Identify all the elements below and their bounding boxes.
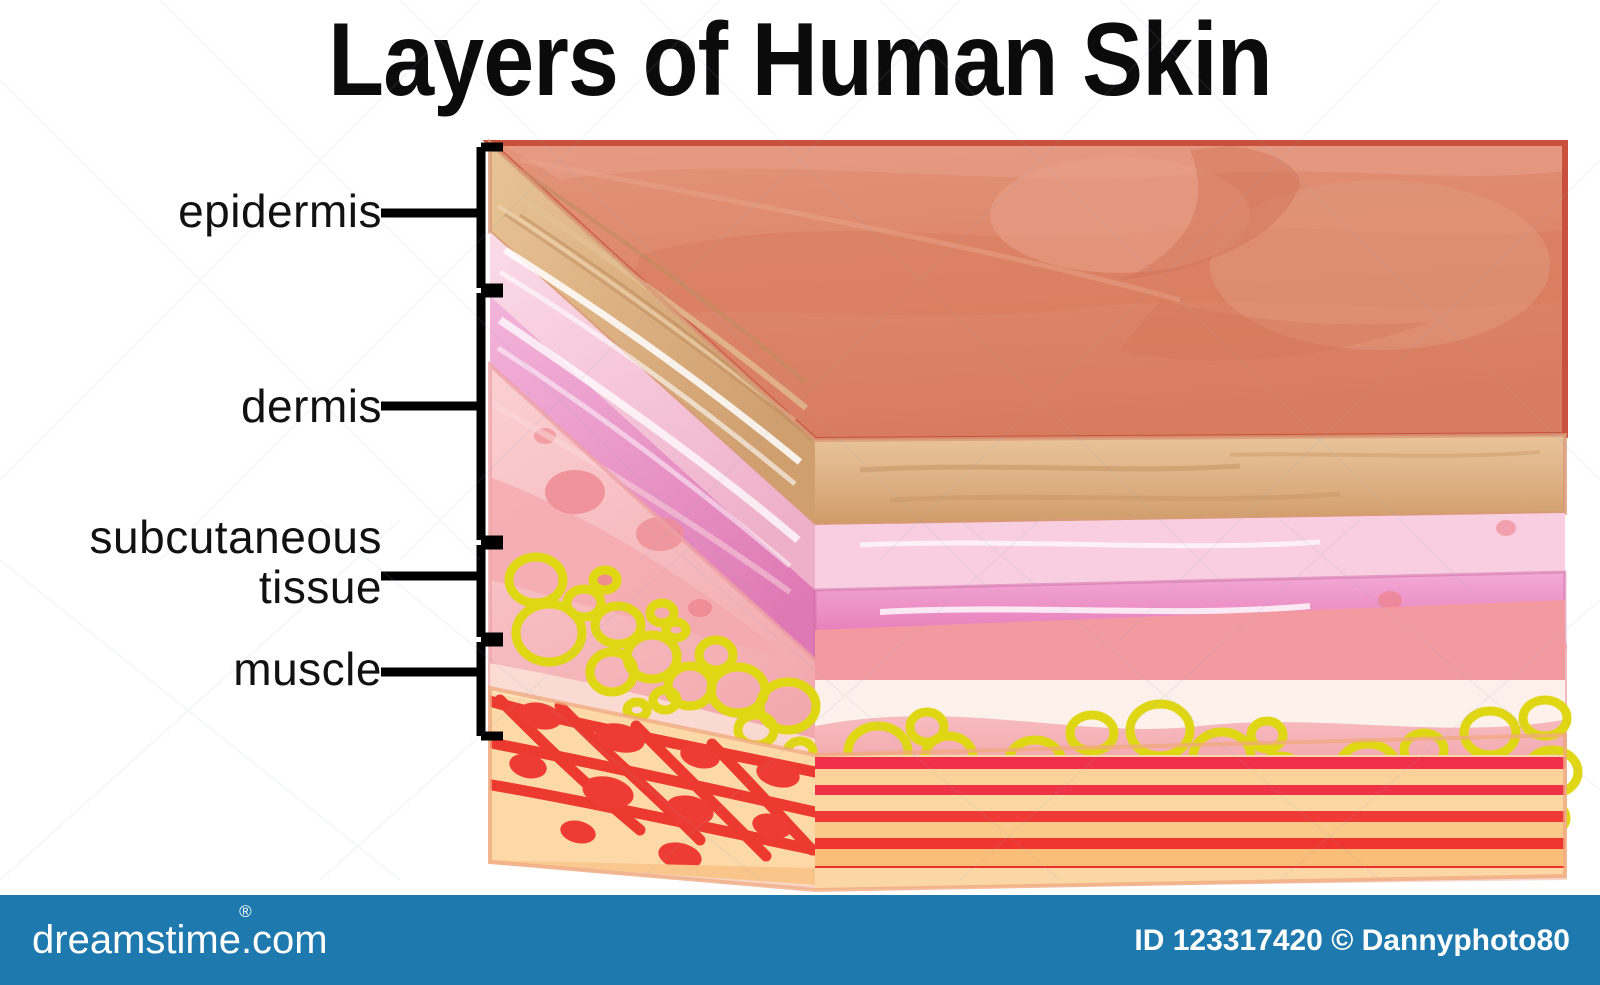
registered-mark-icon: ® — [239, 903, 252, 920]
dreamstime-brand-logo: dreamstime.com ® — [32, 919, 328, 961]
brand-text: dreamstime.com — [32, 918, 328, 962]
bracket-subcutaneous — [381, 545, 503, 637]
label-epidermis: epidermis — [178, 185, 382, 237]
bracket-dermis — [381, 293, 503, 540]
bracket-epidermis — [381, 147, 503, 288]
skin-cross-section-illustration — [0, 0, 1600, 985]
stock-watermark-footer: dreamstime.com ® ID 123317420 © Dannypho… — [0, 895, 1600, 985]
label-muscle: muscle — [233, 643, 382, 695]
image-id-credit: ID 123317420 © Dannyphoto80 — [1134, 925, 1570, 957]
bracket-muscle — [381, 642, 503, 736]
label-dermis: dermis — [241, 380, 382, 432]
muscle-striations — [815, 757, 1575, 876]
diagram-canvas: Layers of Human Skin — [0, 0, 1600, 985]
label-subcutaneous-tissue: subcutaneous tissue — [90, 512, 382, 612]
